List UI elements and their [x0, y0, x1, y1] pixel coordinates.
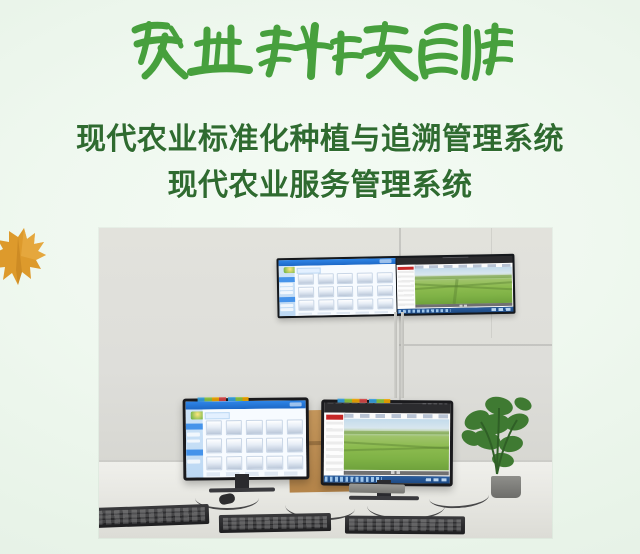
sidebar-item: [187, 433, 200, 437]
taskbar-tray: [426, 478, 449, 482]
sidebar-list: [325, 421, 342, 473]
taskbar-icons: [325, 477, 382, 482]
sidebar-header: [398, 266, 414, 269]
address-bar: [375, 403, 403, 404]
grid-cell: [337, 286, 353, 297]
grid-cell: [266, 437, 282, 452]
potted-plant: [451, 378, 543, 490]
display-mount-pole-2: [401, 312, 404, 398]
browser-bookmarks: [327, 403, 370, 404]
window-controls: [380, 259, 392, 263]
sidebar-item: [280, 308, 293, 311]
grid-cell: [376, 272, 392, 283]
field-video-player: [415, 267, 512, 304]
monitor-screen-left: [186, 400, 307, 477]
app-toolbar: [205, 412, 230, 420]
grid-cell: [337, 273, 353, 284]
sidebar-item: [280, 283, 293, 286]
windows-taskbar: [397, 307, 514, 314]
keyboard-keys: [99, 507, 205, 525]
sidebar-selected-item: [186, 423, 203, 429]
browser-field-app: [396, 256, 514, 314]
grid-cell: [226, 420, 242, 435]
wall-screen-left: [278, 258, 396, 316]
grid-cell: [357, 299, 373, 310]
keyboard: [219, 513, 331, 533]
grid-cell: [318, 299, 334, 310]
poster-page: 现代农业标准化种植与追溯管理系统 现代农业服务管理系统: [0, 0, 640, 554]
sidebar-item: [279, 297, 295, 302]
field-furrow: [344, 446, 449, 452]
sidebar-header: [326, 415, 343, 419]
browser-toolbar-icons: [423, 403, 448, 404]
app-status-bar: [299, 311, 393, 315]
control-room-photo: [99, 228, 552, 538]
web-page: [396, 263, 513, 309]
desktop-monitor-right: [321, 400, 454, 487]
display-mount-pole: [394, 312, 397, 398]
taskbar-tray: [491, 308, 512, 311]
blue-grid-app: [278, 258, 396, 316]
video-horizon: [415, 275, 512, 279]
maple-leaf-icon: [0, 222, 46, 294]
grid-cell: [377, 298, 393, 309]
page-sidebar: [324, 413, 346, 476]
thumbnail-grid: [298, 272, 393, 311]
app-sidebar: [279, 266, 296, 316]
keyboard: [99, 504, 209, 528]
desktop-monitor-left: [183, 397, 310, 480]
grid-cell: [318, 273, 334, 284]
grid-cell: [287, 455, 303, 470]
video-controls[interactable]: [344, 470, 449, 475]
field-video-player: [344, 419, 449, 470]
grid-cell: [267, 455, 283, 470]
grid-cell: [298, 287, 314, 298]
window-controls: [290, 402, 302, 407]
blue-grid-app-copy: [186, 400, 307, 477]
sidebar-list: [398, 271, 414, 308]
grid-cell: [246, 438, 262, 453]
monitor-screen-right: [324, 403, 451, 484]
app-status-bar: [206, 472, 303, 476]
grid-cell: [287, 437, 303, 452]
grid-cell: [206, 420, 222, 435]
sidebar-item: [186, 449, 203, 455]
grid-cell: [226, 456, 242, 471]
grid-cell: [206, 456, 222, 471]
browser-toolbar-icons: [487, 256, 510, 257]
page-headline: [0, 14, 640, 92]
address-bar: [443, 257, 469, 258]
grid-cell: [338, 299, 354, 310]
browser-bookmarks: [398, 258, 438, 259]
sidebar-selected-item: [279, 277, 295, 282]
sidebar-item: [280, 287, 293, 290]
grid-cell: [226, 438, 242, 453]
page-sidebar: [396, 265, 416, 309]
sidebar-item: [280, 304, 293, 307]
plant-pot: [491, 476, 521, 498]
grid-cell: [266, 420, 282, 435]
grid-cell: [357, 273, 373, 284]
grid-cell: [377, 285, 393, 296]
keyboard: [345, 516, 465, 535]
app-content-area: [202, 409, 306, 478]
sidebar-item: [187, 440, 200, 444]
field-furrow: [452, 279, 458, 304]
video-play-buttons[interactable]: [459, 304, 469, 306]
wall-screen-right: [396, 256, 514, 314]
wall-seam-horizontal: [399, 344, 552, 346]
app-sidebar: [186, 410, 204, 478]
grid-cell: [298, 274, 314, 285]
subtitle-line-2: 现代农业服务管理系统: [0, 160, 640, 204]
grid-cell: [299, 300, 315, 311]
subtitle-line-1: 现代农业标准化种植与追溯管理系统: [0, 114, 640, 158]
grid-cell: [357, 286, 373, 297]
grid-cell: [286, 420, 302, 435]
app-content-area: [295, 264, 396, 316]
grid-cell: [246, 420, 262, 435]
keyboard-keys: [349, 519, 461, 532]
wall-mounted-display: [276, 254, 515, 319]
grid-cell: [246, 455, 262, 470]
web-page: [324, 413, 450, 476]
video-play-buttons[interactable]: [391, 471, 401, 474]
thumbnail-grid: [206, 420, 304, 471]
video-horizon: [344, 430, 449, 434]
grid-cell: [318, 286, 334, 297]
sidebar-item: [280, 291, 293, 294]
grid-cell: [206, 438, 222, 453]
sidebar-item: [187, 460, 200, 464]
keyboard-keys: [223, 516, 327, 530]
taskbar-icons: [398, 309, 450, 313]
browser-field-app-copy: [324, 403, 451, 484]
